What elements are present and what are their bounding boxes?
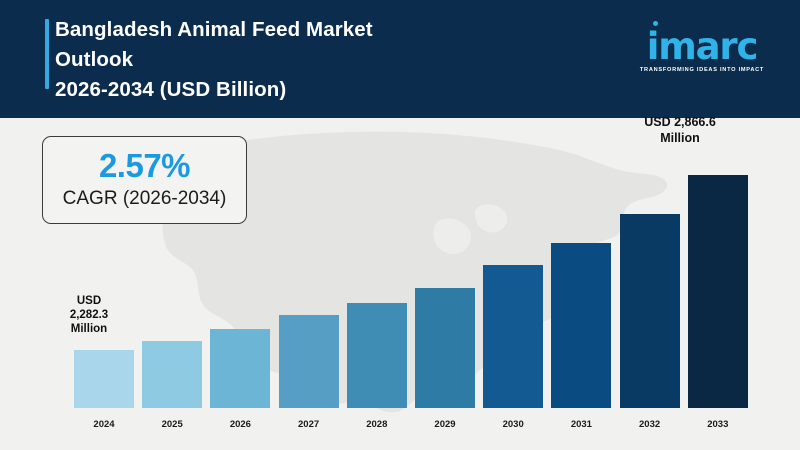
- bar-2029[interactable]: [415, 288, 475, 408]
- bar-2024[interactable]: [74, 350, 134, 408]
- bar-rect-2029: [415, 288, 475, 408]
- bar-2033[interactable]: [688, 175, 748, 408]
- imarc-logo[interactable]: imarc TRANSFORMING IDEAS INTO IMPACT: [632, 28, 772, 73]
- page-title: Bangladesh Animal Feed Market Outlook 20…: [55, 15, 575, 105]
- bar-rect-2028: [347, 303, 407, 408]
- logo-wordmark: imarc: [647, 28, 757, 66]
- x-axis-label-2032: 2032: [620, 419, 680, 430]
- header-bar: Bangladesh Animal Feed Market Outlook 20…: [0, 0, 800, 118]
- logo-text: imarc: [647, 25, 757, 68]
- bar-rect-2026: [210, 329, 270, 408]
- x-axis-label-2033: 2033: [688, 419, 748, 430]
- title-accent-bar: [45, 19, 49, 89]
- bar-2031[interactable]: [551, 243, 611, 408]
- bar-rect-2031: [551, 243, 611, 408]
- x-axis-label-2027: 2027: [279, 419, 339, 430]
- bar-2025[interactable]: [142, 341, 202, 408]
- chart-area: 2.57% CAGR (2026-2034) USD 2,282.3 Milli…: [0, 118, 800, 450]
- bar-2028[interactable]: [347, 303, 407, 408]
- bar-plot: 2024202520262027202820292030203120322033: [0, 118, 800, 450]
- bar-rect-2032: [620, 214, 680, 408]
- bar-rect-2030: [483, 265, 543, 408]
- bar-rect-2033: [688, 175, 748, 408]
- x-axis-label-2030: 2030: [483, 419, 543, 430]
- title-line-3: 2026-2034 (USD Billion): [55, 75, 575, 105]
- x-axis-label-2025: 2025: [142, 419, 202, 430]
- bar-2026[interactable]: [210, 329, 270, 408]
- bar-2032[interactable]: [620, 214, 680, 408]
- title-line-1: Bangladesh Animal Feed Market: [55, 15, 575, 45]
- bar-rect-2024: [74, 350, 134, 408]
- logo-dot-icon: [653, 21, 658, 26]
- x-axis-label-2024: 2024: [74, 419, 134, 430]
- bar-2030[interactable]: [483, 265, 543, 408]
- x-axis-label-2029: 2029: [415, 419, 475, 430]
- bar-rect-2025: [142, 341, 202, 408]
- title-line-2: Outlook: [55, 45, 575, 75]
- bar-rect-2027: [279, 315, 339, 408]
- x-axis-label-2026: 2026: [210, 419, 270, 430]
- chart-screenshot: Bangladesh Animal Feed Market Outlook 20…: [0, 0, 800, 450]
- bar-2027[interactable]: [279, 315, 339, 408]
- x-axis-label-2031: 2031: [551, 419, 611, 430]
- x-axis-label-2028: 2028: [347, 419, 407, 430]
